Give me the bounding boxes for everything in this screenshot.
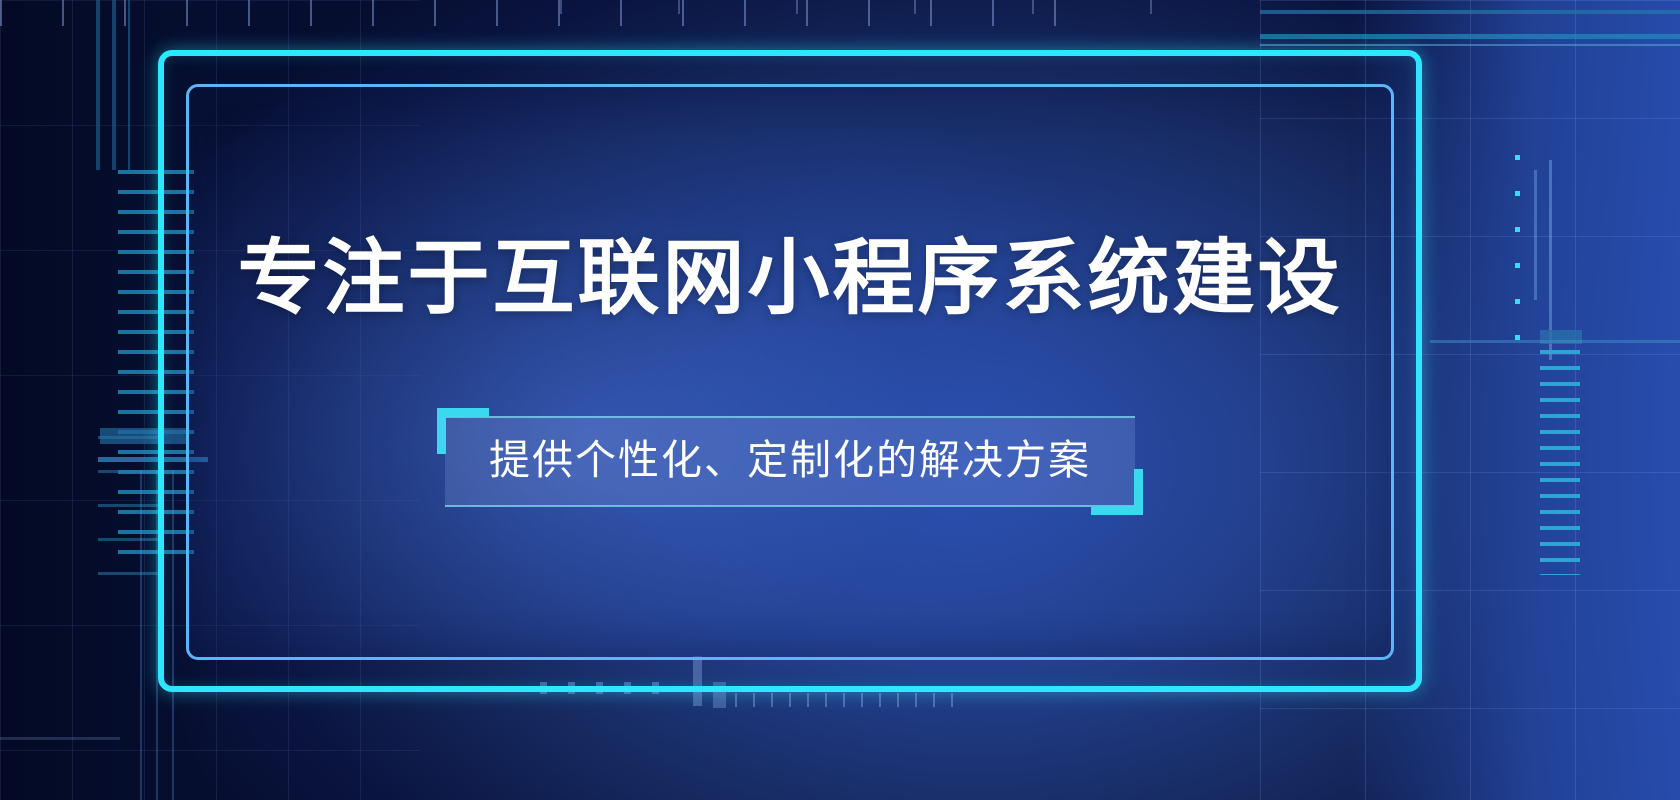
bottom-tick-marks-icon [735,693,965,707]
horizontal-line-top-a-icon [1260,10,1680,14]
vertical-lines-topleft-icon [96,0,130,170]
horizontal-line-top-c-icon [1260,44,1680,46]
subtitle-box: 提供个性化、定制化的解决方案 [445,416,1135,507]
vertical-line-right-b-icon [1534,170,1537,300]
page-title: 专注于互联网小程序系统建设 [237,238,1342,320]
dot-column-right-icon [1515,155,1520,345]
banner-stage: 专注于互联网小程序系统建设 提供个性化、定制化的解决方案 [0,0,1680,800]
subtitle-text: 提供个性化、定制化的解决方案 [489,440,1091,481]
stripe-stack-right-icon [1540,350,1580,575]
subtitle-container: 提供个性化、定制化的解决方案 [445,416,1135,507]
banner-content: 专注于互联网小程序系统建设 提供个性化、定制化的解决方案 [186,84,1394,660]
top-tick-marks-secondary-icon [560,0,1260,14]
horizontal-line-mid-icon [1430,340,1680,343]
bottom-left-faint-line-icon [0,737,120,740]
horizontal-line-top-b-icon [1260,34,1680,39]
